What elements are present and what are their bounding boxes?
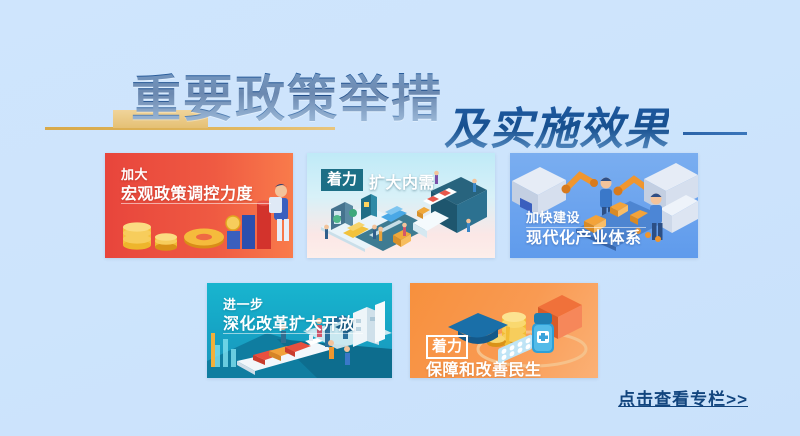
- view-column-link[interactable]: 点击查看专栏>>: [618, 385, 748, 410]
- policy-card-macro-control[interactable]: 加大 宏观政策调控力度: [105, 153, 293, 258]
- card-1-label-line1: 加大: [121, 166, 148, 183]
- card-3-label-line1: 加快建设: [526, 209, 580, 226]
- page-title-sub: 及实施效果: [444, 106, 669, 154]
- policy-card-reform-opening[interactable]: 进一步 深化改革扩大开放: [207, 283, 392, 378]
- card-3-label-line2: 现代化产业体系: [526, 229, 642, 249]
- card-5-label-line1: 着力: [426, 335, 468, 359]
- card-3-underline: [526, 227, 646, 228]
- card-4-label-line2: 深化改革扩大开放: [223, 315, 355, 335]
- page-title-main: 重要政策举措: [131, 72, 443, 126]
- card-4-label-line1: 进一步: [223, 296, 264, 313]
- blue-rule-right: [683, 132, 747, 135]
- policy-card-livelihood[interactable]: 着力 保障和改善民生: [410, 283, 598, 378]
- banner-title-zone: 重要政策举措 及实施效果: [0, 34, 800, 134]
- card-5-label-line2: 保障和改善民生: [426, 356, 542, 378]
- policy-banner: 重要政策举措 及实施效果: [0, 0, 800, 436]
- card-1-label-line2: 宏观政策调控力度: [121, 185, 253, 205]
- card-2-label-line1: 着力: [321, 169, 363, 191]
- policy-card-expand-demand[interactable]: 着力 扩大内需: [307, 153, 495, 258]
- policy-card-industrial-system[interactable]: 加快建设 现代化产业体系: [510, 153, 698, 258]
- card-2-label-line2: 扩大内需: [369, 169, 435, 193]
